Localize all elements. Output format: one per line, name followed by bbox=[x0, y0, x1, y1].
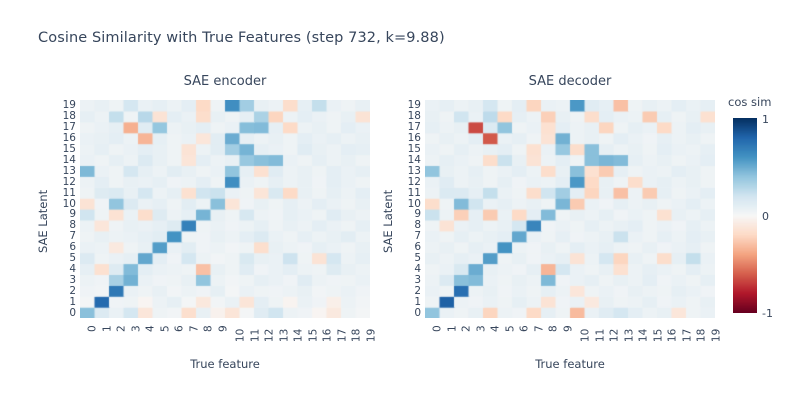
colorbar-gradient bbox=[733, 118, 757, 313]
y-tick-label: 7 bbox=[69, 231, 76, 242]
colorbar: cos sim 1 0 -1 bbox=[733, 118, 757, 313]
x-tick-label: 15 bbox=[653, 329, 664, 342]
y-tick-label: 1 bbox=[69, 297, 76, 308]
x-axis-label-encoder: True feature bbox=[80, 357, 370, 371]
x-tick-label: 11 bbox=[250, 329, 261, 342]
y-tick-label: 3 bbox=[69, 275, 76, 286]
y-tick-label: 2 bbox=[69, 286, 76, 297]
y-tick-label: 15 bbox=[63, 144, 76, 155]
x-tick-label: 5 bbox=[160, 325, 171, 332]
x-axis-label-decoder: True feature bbox=[425, 357, 715, 371]
y-tick-label: 17 bbox=[408, 122, 421, 133]
x-tick-label: 0 bbox=[433, 325, 444, 332]
y-tick-label: 0 bbox=[414, 308, 421, 319]
x-tick-label: 8 bbox=[549, 325, 560, 332]
y-tick-label: 12 bbox=[63, 177, 76, 188]
y-tick-label: 13 bbox=[408, 166, 421, 177]
x-tick-label: 18 bbox=[697, 329, 708, 342]
y-tick-label: 10 bbox=[63, 199, 76, 210]
x-tick-label: 6 bbox=[520, 325, 531, 332]
x-tick-label: 10 bbox=[581, 329, 592, 342]
x-tick-label: 16 bbox=[668, 329, 679, 342]
y-tick-label: 12 bbox=[408, 177, 421, 188]
heatmap-sae-decoder bbox=[425, 100, 715, 318]
x-tick-label: 14 bbox=[639, 329, 650, 342]
y-tick-label: 11 bbox=[408, 188, 421, 199]
colorbar-tick-max: 1 bbox=[762, 114, 769, 125]
y-tick-label: 4 bbox=[69, 264, 76, 275]
x-tick-label: 19 bbox=[711, 329, 722, 342]
y-axis-label-encoder: SAE Latent bbox=[36, 190, 50, 253]
y-tick-label: 13 bbox=[63, 166, 76, 177]
panel-sae-decoder: SAE decoder 0123456789101112131415161718… bbox=[425, 100, 715, 318]
x-tick-label: 18 bbox=[352, 329, 363, 342]
y-tick-label: 14 bbox=[408, 155, 421, 166]
x-tick-label: 9 bbox=[218, 325, 229, 332]
y-tick-label: 1 bbox=[414, 297, 421, 308]
y-tick-label: 18 bbox=[408, 111, 421, 122]
colorbar-tick-min: -1 bbox=[762, 308, 773, 319]
y-tick-label: 9 bbox=[69, 209, 76, 220]
x-tick-label: 16 bbox=[323, 329, 334, 342]
y-tick-label: 8 bbox=[69, 220, 76, 231]
y-tick-label: 16 bbox=[408, 133, 421, 144]
x-tick-label: 15 bbox=[308, 329, 319, 342]
y-tick-label: 4 bbox=[414, 264, 421, 275]
x-tick-label: 13 bbox=[624, 329, 635, 342]
x-tick-label: 7 bbox=[189, 325, 200, 332]
panel-title-encoder: SAE encoder bbox=[80, 74, 370, 89]
x-tick-label: 2 bbox=[117, 325, 128, 332]
y-tick-label: 17 bbox=[63, 122, 76, 133]
x-tick-label: 10 bbox=[236, 329, 247, 342]
y-tick-label: 10 bbox=[408, 199, 421, 210]
x-tick-label: 7 bbox=[534, 325, 545, 332]
y-tick-label: 19 bbox=[408, 100, 421, 111]
x-tick-label: 8 bbox=[204, 325, 215, 332]
x-tick-label: 14 bbox=[294, 329, 305, 342]
heatmap-sae-encoder bbox=[80, 100, 370, 318]
x-tick-label: 5 bbox=[505, 325, 516, 332]
y-tick-label: 7 bbox=[414, 231, 421, 242]
x-tick-label: 12 bbox=[610, 329, 621, 342]
colorbar-title: cos sim bbox=[728, 95, 771, 109]
x-tick-label: 12 bbox=[265, 329, 276, 342]
y-tick-label: 6 bbox=[414, 242, 421, 253]
figure-title: Cosine Similarity with True Features (st… bbox=[38, 30, 445, 46]
y-tick-label: 5 bbox=[414, 253, 421, 264]
y-tick-label: 6 bbox=[69, 242, 76, 253]
y-tick-label: 3 bbox=[414, 275, 421, 286]
y-tick-label: 15 bbox=[408, 144, 421, 155]
x-tick-label: 4 bbox=[146, 325, 157, 332]
panel-sae-encoder: SAE encoder 0123456789101112131415161718… bbox=[80, 100, 370, 318]
x-tick-label: 13 bbox=[279, 329, 290, 342]
y-tick-label: 18 bbox=[63, 111, 76, 122]
x-tick-label: 2 bbox=[462, 325, 473, 332]
y-tick-label: 19 bbox=[63, 100, 76, 111]
y-tick-label: 11 bbox=[63, 188, 76, 199]
x-tick-label: 3 bbox=[131, 325, 142, 332]
y-tick-label: 0 bbox=[69, 308, 76, 319]
y-axis-label-decoder: SAE Latent bbox=[381, 190, 395, 253]
x-tick-label: 19 bbox=[366, 329, 377, 342]
panel-title-decoder: SAE decoder bbox=[425, 74, 715, 89]
x-tick-label: 9 bbox=[563, 325, 574, 332]
x-tick-label: 11 bbox=[595, 329, 606, 342]
x-tick-label: 1 bbox=[447, 325, 458, 332]
colorbar-tick-mid: 0 bbox=[762, 211, 769, 222]
y-tick-label: 5 bbox=[69, 253, 76, 264]
x-tick-label: 1 bbox=[102, 325, 113, 332]
x-tick-label: 0 bbox=[88, 325, 99, 332]
y-tick-label: 2 bbox=[414, 286, 421, 297]
x-tick-label: 17 bbox=[337, 329, 348, 342]
y-tick-label: 14 bbox=[63, 155, 76, 166]
figure-canvas: Cosine Similarity with True Features (st… bbox=[0, 0, 800, 400]
x-tick-label: 17 bbox=[682, 329, 693, 342]
x-tick-label: 3 bbox=[476, 325, 487, 332]
y-tick-label: 16 bbox=[63, 133, 76, 144]
x-tick-label: 6 bbox=[175, 325, 186, 332]
y-tick-label: 9 bbox=[414, 209, 421, 220]
x-tick-label: 4 bbox=[491, 325, 502, 332]
y-tick-label: 8 bbox=[414, 220, 421, 231]
